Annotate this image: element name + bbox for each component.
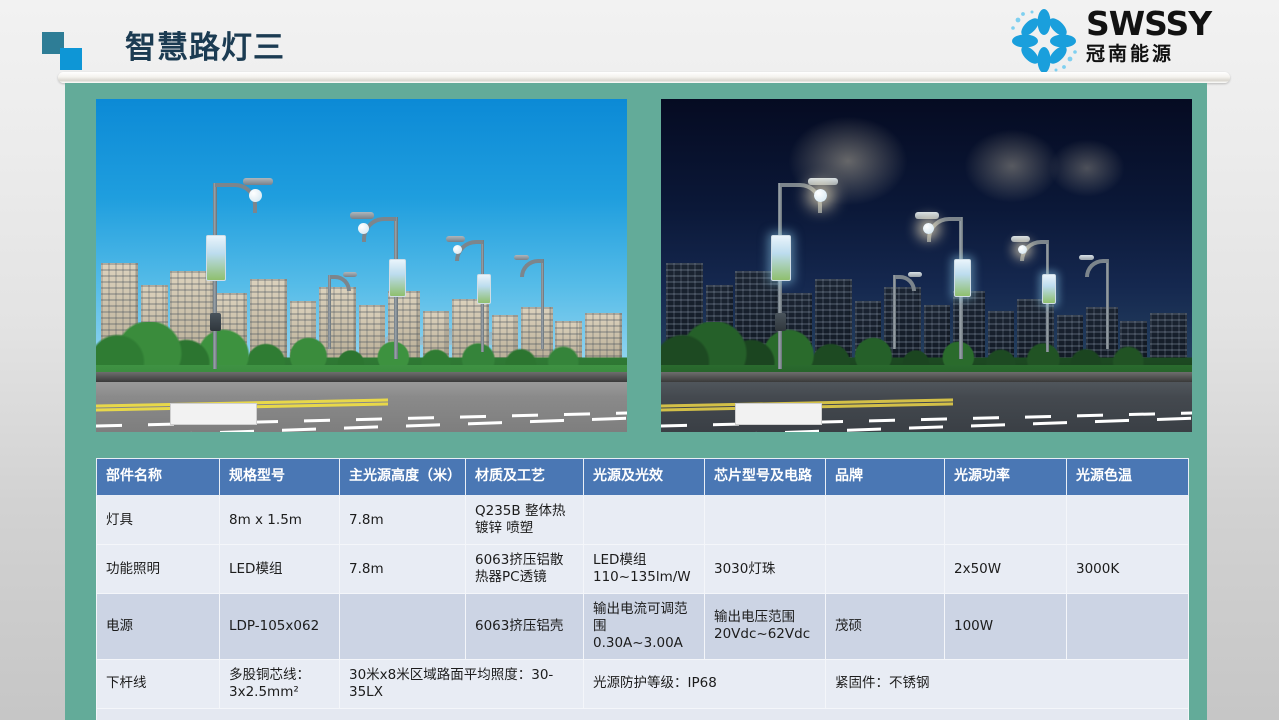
cell-power	[945, 496, 1067, 545]
table-row: 下杆线 多股铜芯线：3x2.5mm² 30米x8米区域路面平均照度：30-35L…	[97, 659, 1189, 708]
cell-part-name: 功能照明	[97, 545, 220, 594]
cell-brand: 茂硕	[826, 594, 945, 660]
logo-brand-name: SWSSY	[1086, 6, 1261, 42]
table-row: 灯具 8m x 1.5m 7.8m Q235B 整体热镀锌 喷塑	[97, 496, 1189, 545]
column-header-chip-circuit: 芯片型号及电路	[705, 459, 826, 496]
cell-brand	[826, 545, 945, 594]
smart-lamp-post	[377, 217, 415, 359]
smart-lamp-post	[1033, 240, 1063, 352]
cell-light-efficacy	[584, 496, 705, 545]
cell-power: 2x50W	[945, 545, 1067, 594]
page-title: 智慧路灯三	[125, 22, 285, 67]
cell-brand	[826, 496, 945, 545]
cell-part-name: 灯具	[97, 496, 220, 545]
cell-material: Q235B 整体热镀锌 喷塑	[466, 496, 584, 545]
cell-ip-rating: 光源防护等级：IP68	[584, 659, 826, 708]
cell-part-name: 下杆线	[97, 659, 220, 708]
header-divider-rod	[58, 72, 1230, 83]
cell-color-temp	[1067, 594, 1189, 660]
nighttime-street-lighting-render	[661, 99, 1192, 432]
cell-chip-circuit: 3030灯珠	[705, 545, 826, 594]
cell-light-height	[340, 594, 466, 660]
cell-light-efficacy: 输出电流可调范围0.30A~3.00A	[584, 594, 705, 660]
cell-color-temp: 3000K	[1067, 545, 1189, 594]
cell-model: LDP-105x062	[220, 594, 340, 660]
decor-square-blue-icon	[60, 48, 82, 70]
slide: 智慧路灯三	[0, 0, 1279, 720]
column-header-material: 材质及工艺	[466, 459, 584, 496]
column-header-color-temp: 光源色温	[1067, 459, 1189, 496]
table-header-row: 部件名称 规格型号 主光源高度（米） 材质及工艺 光源及光效 芯片型号及电路 品…	[97, 459, 1189, 496]
cell-color-temp	[1067, 496, 1189, 545]
cell-chip-circuit: 输出电压范围20Vdc~62Vdc	[705, 594, 826, 660]
smart-lamp-post	[319, 275, 341, 349]
cell-light-height: 7.8m	[340, 545, 466, 594]
cell-model: 8m x 1.5m	[220, 496, 340, 545]
smart-lamp-post	[884, 275, 906, 349]
column-header-light-efficacy: 光源及光效	[584, 459, 705, 496]
specification-table: 部件名称 规格型号 主光源高度（米） 材质及工艺 光源及光效 芯片型号及电路 品…	[96, 458, 1189, 720]
table-row: 电源 LDP-105x062 6063挤压铝壳 输出电流可调范围0.30A~3.…	[97, 594, 1189, 660]
cell-power: 100W	[945, 594, 1067, 660]
cell-part-name: 电源	[97, 594, 220, 660]
smart-lamp-post	[1096, 259, 1120, 349]
swssy-flower-logo-icon	[1008, 8, 1080, 74]
pole-base-plinth	[735, 403, 822, 425]
logo-brand-sub: 冠南能源	[1086, 42, 1261, 66]
cell-light-height: 7.8m	[340, 496, 466, 545]
column-header-part-name: 部件名称	[97, 459, 220, 496]
smart-lamp-post	[192, 183, 238, 369]
cell-model: LED模组	[220, 545, 340, 594]
cell-cable-spec: 多股铜芯线：3x2.5mm²	[220, 659, 340, 708]
cell-fasteners: 紧固件：不锈钢	[826, 659, 1189, 708]
column-header-power: 光源功率	[945, 459, 1067, 496]
smart-lamp-post	[468, 240, 498, 352]
daytime-street-lighting-render	[96, 99, 627, 432]
cell-chip-circuit	[705, 496, 826, 545]
column-header-light-height: 主光源高度（米）	[340, 459, 466, 496]
smart-lamp-post	[757, 183, 803, 369]
cell-material: 6063挤压铝壳	[466, 594, 584, 660]
cell-illuminance: 30米x8米区域路面平均照度：30-35LX	[340, 659, 584, 708]
smart-lamp-post	[942, 217, 980, 359]
cell-light-efficacy: LED模组110~135lm/W	[584, 545, 705, 594]
cell-material: 6063挤压铝散热器PC透镜	[466, 545, 584, 594]
column-header-model: 规格型号	[220, 459, 340, 496]
logo-text-block: SWSSY 冠南能源	[1086, 6, 1261, 66]
smart-lamp-post	[531, 259, 555, 349]
table-note: 主要用于城市次车道、快速通道、公路等场所（技术参数仅供参考，以用户要求配置为准）	[97, 708, 1189, 720]
column-header-brand: 品牌	[826, 459, 945, 496]
table-note-row: 主要用于城市次车道、快速通道、公路等场所（技术参数仅供参考，以用户要求配置为准）	[97, 708, 1189, 720]
table-row: 功能照明 LED模组 7.8m 6063挤压铝散热器PC透镜 LED模组110~…	[97, 545, 1189, 594]
pole-base-plinth	[170, 403, 257, 425]
company-logo: SWSSY 冠南能源	[1008, 4, 1263, 78]
